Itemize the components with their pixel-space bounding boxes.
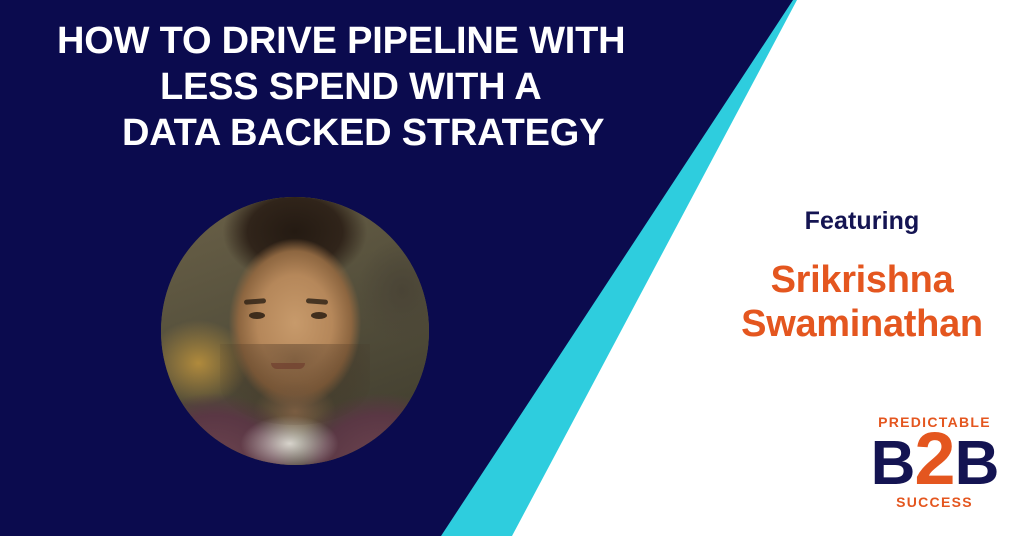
speaker-headshot-avatar (161, 197, 429, 465)
headshot-photo (161, 197, 429, 465)
logo-numeral-two: 2 (914, 417, 954, 500)
webinar-promo-banner: HOW TO DRIVE PIPELINE WITH LESS SPEND WI… (0, 0, 1024, 536)
logo-wordmark: B2B (862, 428, 1007, 495)
beard-shading (220, 344, 370, 424)
speaker-block: Featuring Srikrishna Swaminathan (700, 206, 1024, 346)
featuring-label: Featuring (700, 206, 1024, 236)
title-line-2: LESS SPEND WITH A (0, 64, 700, 110)
logo-letter-b-right: B (955, 429, 999, 498)
speaker-name: Srikrishna Swaminathan (700, 258, 1024, 346)
brand-logo: PREDICTABLE B2B SUCCESS (862, 414, 1007, 510)
title-line-1: HOW TO DRIVE PIPELINE WITH (0, 18, 700, 64)
speaker-name-line-1: Srikrishna (700, 258, 1024, 302)
speaker-name-line-2: Swaminathan (700, 302, 1024, 346)
title-line-3: DATA BACKED STRATEGY (0, 110, 700, 156)
page-title: HOW TO DRIVE PIPELINE WITH LESS SPEND WI… (0, 18, 700, 156)
mouth (271, 363, 305, 369)
logo-letter-b-left: B (871, 429, 915, 498)
